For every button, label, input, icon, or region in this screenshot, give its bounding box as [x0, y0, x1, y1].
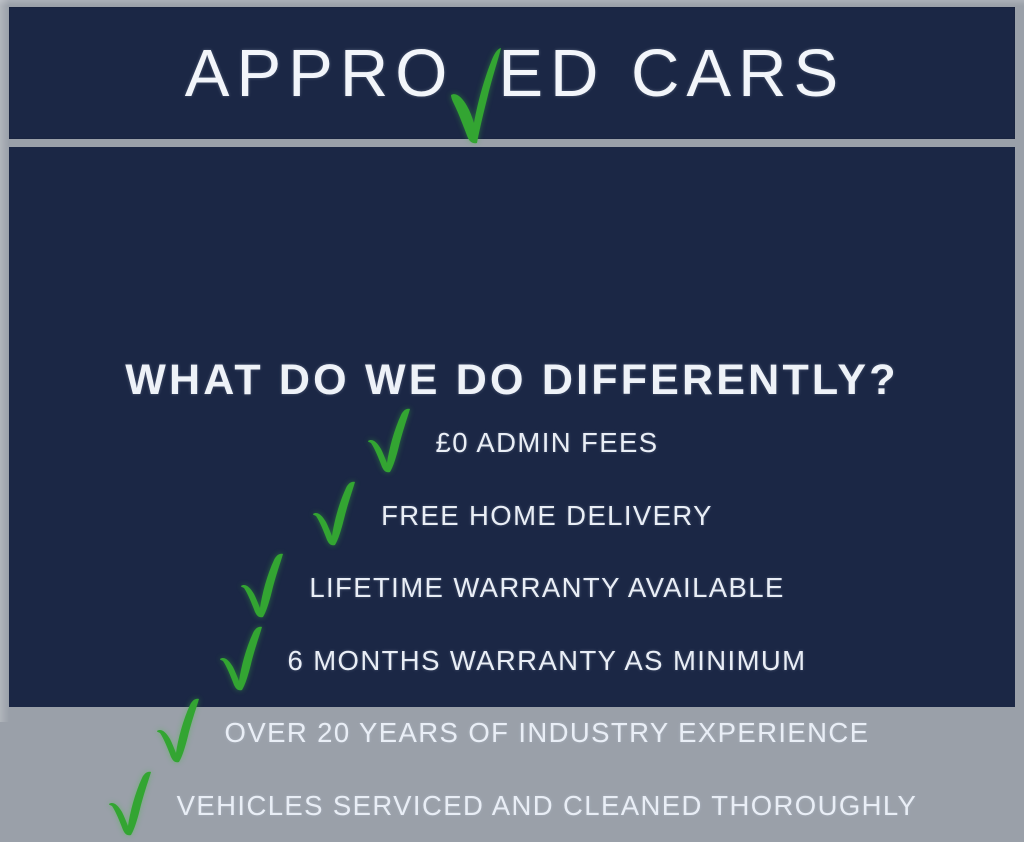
green-check-icon — [366, 409, 418, 473]
tick-wrap — [107, 776, 159, 836]
list-item: OVER 20 YEARS OF INDUSTRY EXPERIENCE — [9, 697, 1015, 770]
list-item-label: OVER 20 YEARS OF INDUSTRY EXPERIENCE — [225, 717, 870, 749]
content-panel: WHAT DO WE DO DIFFERENTLY? £0 ADMIN FEES… — [9, 147, 1015, 707]
brand-title-suffix: ED CARS — [498, 36, 845, 111]
tick-wrap — [239, 558, 291, 618]
list-item-label: 6 MONTHS WARRANTY AS MINIMUM — [288, 645, 807, 677]
list-item-label: LIFETIME WARRANTY AVAILABLE — [309, 572, 784, 604]
brand-title-prefix: APPRO — [185, 36, 455, 111]
list-item-label: FREE HOME DELIVERY — [381, 500, 713, 532]
list-item-label: £0 ADMIN FEES — [436, 427, 659, 459]
tick-wrap — [311, 486, 363, 546]
green-check-icon — [155, 699, 207, 763]
poster-canvas: APPRO ED CARS WHAT DO WE DO DIFFERENTLY?… — [0, 0, 1024, 722]
list-item: 6 MONTHS WARRANTY AS MINIMUM — [9, 625, 1015, 698]
feature-list: £0 ADMIN FEES FREE HOME DELIVERY LIFETIM… — [9, 407, 1015, 842]
tick-wrap — [218, 631, 270, 691]
brand-header-panel: APPRO ED CARS — [9, 7, 1015, 139]
brand-title: APPRO ED CARS — [179, 40, 845, 107]
list-item: FREE HOME DELIVERY — [9, 480, 1015, 553]
list-item-label: VEHICLES SERVICED AND CLEANED THOROUGHLY — [177, 790, 918, 822]
green-check-icon — [218, 627, 270, 691]
green-check-icon — [311, 482, 363, 546]
page-title: WHAT DO WE DO DIFFERENTLY? — [9, 356, 1015, 405]
tick-wrap — [366, 413, 418, 473]
green-check-icon — [107, 772, 159, 836]
list-item: VEHICLES SERVICED AND CLEANED THOROUGHLY — [9, 770, 1015, 842]
green-check-icon — [447, 48, 505, 144]
tick-wrap — [155, 703, 207, 763]
list-item: LIFETIME WARRANTY AVAILABLE — [9, 552, 1015, 625]
green-check-icon — [239, 554, 291, 618]
list-item: £0 ADMIN FEES — [9, 407, 1015, 480]
